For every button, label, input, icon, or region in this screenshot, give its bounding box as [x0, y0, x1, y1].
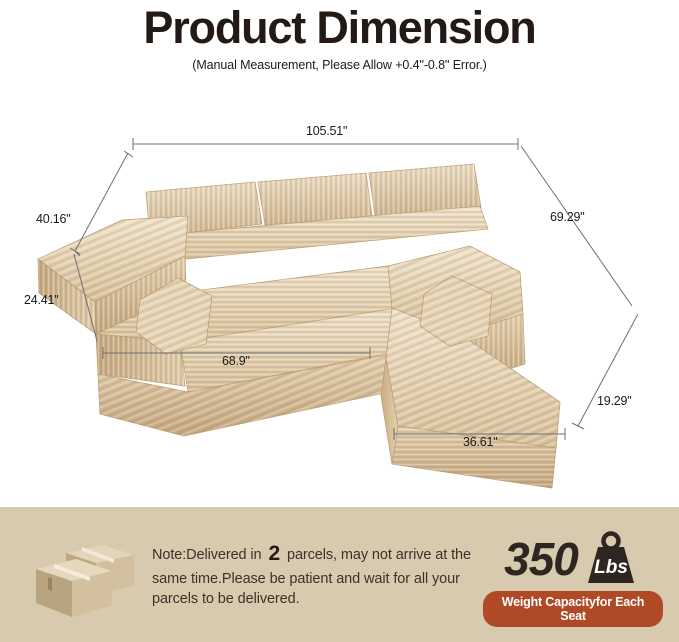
sofa-illustration: [0, 96, 679, 496]
dimension-label-seat-height: 24.41": [24, 293, 59, 307]
dimension-label-chaise-width: 36.61": [463, 435, 498, 449]
shipping-banner: Note:Delivered in 2 parcels, may not arr…: [0, 507, 679, 642]
page-title: Product Dimension: [0, 4, 679, 53]
weight-capacity-badge: 350 Lbs Weight Capacityfor Each Seat: [483, 529, 663, 629]
dimension-label-sofa-length: 68.9": [222, 354, 250, 368]
dimension-label-overall-depth: 69.29": [550, 210, 585, 224]
page-subtitle: (Manual Measurement, Please Allow +0.4"-…: [0, 58, 679, 72]
cardboard-boxes-icon: [22, 531, 142, 621]
parcel-count: 2: [265, 542, 283, 565]
weight-unit-text: Lbs: [594, 557, 628, 578]
dimension-label-chaise-height: 19.29": [597, 394, 632, 408]
delivery-note: Note:Delivered in 2 parcels, may not arr…: [152, 539, 482, 610]
note-prefix: Note:Delivered in: [152, 547, 262, 563]
dimension-label-overall-width: 105.51": [306, 124, 347, 138]
weight-capacity-caption: Weight Capacityfor Each Seat: [483, 591, 663, 627]
header: Product Dimension (Manual Measurement, P…: [0, 0, 679, 72]
product-diagram: 105.51" 69.29" 40.16" 24.41" 68.9" 36.61…: [0, 96, 679, 496]
dimension-label-overall-height: 40.16": [36, 212, 71, 226]
weight-icon: Lbs: [580, 531, 642, 587]
weight-value: 350: [504, 536, 578, 582]
product-dimension-infographic: Product Dimension (Manual Measurement, P…: [0, 0, 679, 642]
